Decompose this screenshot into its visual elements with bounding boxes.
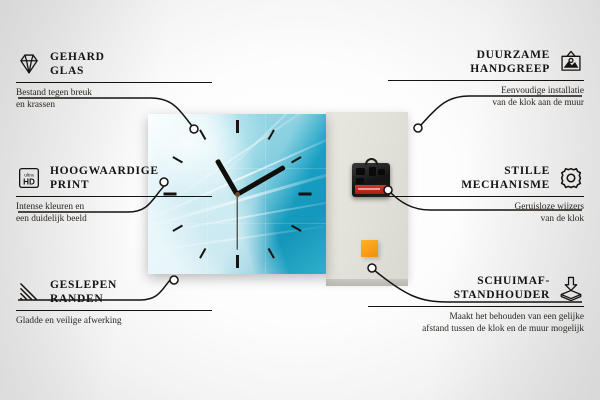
callout-title-line1: HOOGWAARDIGE: [50, 164, 159, 178]
callout-title-line1: GESLEPEN: [50, 278, 117, 292]
svg-text:HD: HD: [23, 178, 35, 187]
callout-desc-line2: een duidelijk beeld: [16, 213, 212, 225]
callout-title-line1: GEHARD: [50, 50, 105, 64]
callout-title-line2: HANDGREEP: [470, 62, 550, 76]
callout-gehard-glas[interactable]: GEHARD GLAS Bestand tegen breuk en krass…: [16, 50, 212, 111]
diamond-icon: [16, 51, 42, 77]
callout-title-line2: RANDEN: [50, 292, 117, 306]
callout-desc-line1: Eenvoudige installatie: [388, 85, 584, 97]
callout-desc-line1: Geruisloze wijzers: [388, 201, 584, 213]
beveled-edge-icon: [16, 279, 42, 305]
callout-divider: [368, 306, 584, 307]
callout-desc-line2: en krassen: [16, 99, 212, 111]
callout-title-line2: MECHANISME: [461, 178, 550, 192]
clock-center-pin: [235, 192, 240, 197]
callout-divider: [388, 196, 584, 197]
callout-stille-mechanisme[interactable]: STILLE MECHANISME Geruisloze wijzers van…: [388, 164, 584, 225]
callout-desc-line2: van de klok: [388, 213, 584, 225]
callout-schuimaf-standhouder[interactable]: SCHUIMAF- STANDHOUDER Maakt het behouden…: [368, 274, 584, 335]
callout-desc-line1: Intense kleuren en: [16, 201, 212, 213]
picture-frame-icon: [558, 49, 584, 75]
callout-title-line1: STILLE: [461, 164, 550, 178]
callout-title-line2: PRINT: [50, 178, 159, 192]
foam-spacer-pad: [361, 240, 378, 257]
callout-title-line2: STANDHOUDER: [454, 288, 550, 302]
callout-duurzame-handgreep[interactable]: DUURZAME HANDGREEP Eenvoudige installati…: [388, 48, 584, 109]
callout-divider: [388, 80, 584, 81]
callout-desc-line1: Maakt het behouden van een gelijke: [368, 311, 584, 323]
callout-title-line1: DUURZAME: [470, 48, 550, 62]
clock-second-hand: [236, 194, 237, 250]
hotspot-duurzame-handgreep: [414, 124, 422, 132]
callout-divider: [16, 310, 212, 311]
callout-desc-line2: van de klok aan de muur: [388, 97, 584, 109]
callout-desc-line1: Gladde en veilige afwerking: [16, 315, 212, 327]
spacer-arrow-icon: [558, 275, 584, 301]
callout-geslepen-randen[interactable]: GESLEPEN RANDEN Gladde en veilige afwerk…: [16, 278, 212, 327]
callout-hoogwaardige-print[interactable]: ultra HD HOOGWAARDIGE PRINT Intense kleu…: [16, 164, 212, 225]
callout-divider: [16, 82, 212, 83]
infographic-canvas: GEHARD GLAS Bestand tegen breuk en krass…: [0, 0, 600, 400]
clock-mechanism: [352, 163, 390, 197]
callout-desc-line2: afstand tussen de klok en de muur mogeli…: [368, 323, 584, 335]
battery: [355, 185, 387, 194]
gear-icon: [558, 165, 584, 191]
ultra-hd-icon: ultra HD: [16, 165, 42, 191]
callout-desc-line1: Bestand tegen breuk: [16, 87, 212, 99]
callout-title-line2: GLAS: [50, 64, 105, 78]
callout-title-line1: SCHUIMAF-: [454, 274, 550, 288]
callout-divider: [16, 196, 212, 197]
